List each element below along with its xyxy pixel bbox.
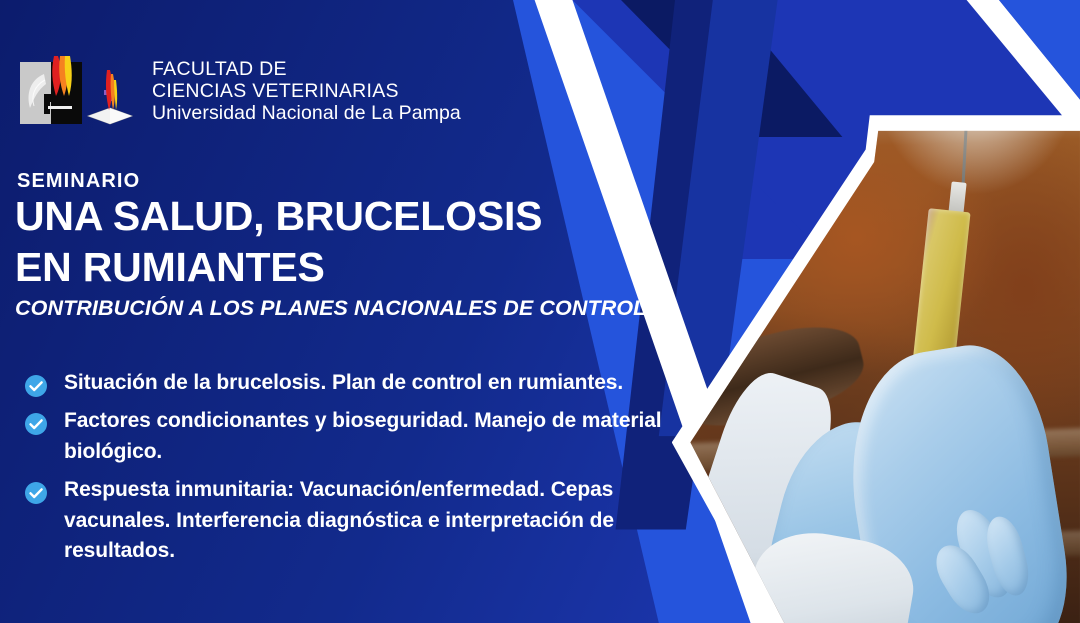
- check-circle-icon: [24, 374, 48, 398]
- event-kicker: SEMINARIO: [17, 170, 140, 193]
- event-title-line-1: UNA SALUD, BRUCELOSIS: [15, 193, 542, 240]
- list-item: Situación de la brucelosis. Plan de cont…: [24, 368, 684, 398]
- seminar-poster: FACULTAD DE CIENCIAS VETERINARIAS Univer…: [0, 0, 1080, 623]
- unlpam-veterinary-crest-icon: [18, 56, 140, 128]
- list-item: Respuesta inmunitaria: Vacunación/enferm…: [24, 475, 684, 566]
- topic-text: Respuesta inmunitaria: Vacunación/enferm…: [64, 475, 684, 566]
- university-line: Universidad Nacional de La Pampa: [152, 103, 461, 125]
- poster-content: FACULTAD DE CIENCIAS VETERINARIAS Univer…: [0, 0, 1080, 623]
- check-circle-icon: [24, 481, 48, 505]
- event-title-line-2: EN RUMIANTES: [15, 244, 325, 291]
- faculty-line-1: FACULTAD DE: [152, 59, 461, 81]
- topic-text: Factores condicionantes y bioseguridad. …: [64, 406, 684, 467]
- event-subtitle: CONTRIBUCIÓN A LOS PLANES NACIONALES DE …: [15, 296, 646, 321]
- check-circle-icon: [24, 412, 48, 436]
- list-item: Factores condicionantes y bioseguridad. …: [24, 406, 684, 467]
- institution-name: FACULTAD DE CIENCIAS VETERINARIAS Univer…: [152, 59, 461, 124]
- topic-text: Situación de la brucelosis. Plan de cont…: [64, 368, 623, 398]
- topics-list: Situación de la brucelosis. Plan de cont…: [24, 368, 684, 575]
- institution-logo-block: FACULTAD DE CIENCIAS VETERINARIAS Univer…: [18, 56, 461, 128]
- faculty-line-2: CIENCIAS VETERINARIAS: [152, 81, 461, 103]
